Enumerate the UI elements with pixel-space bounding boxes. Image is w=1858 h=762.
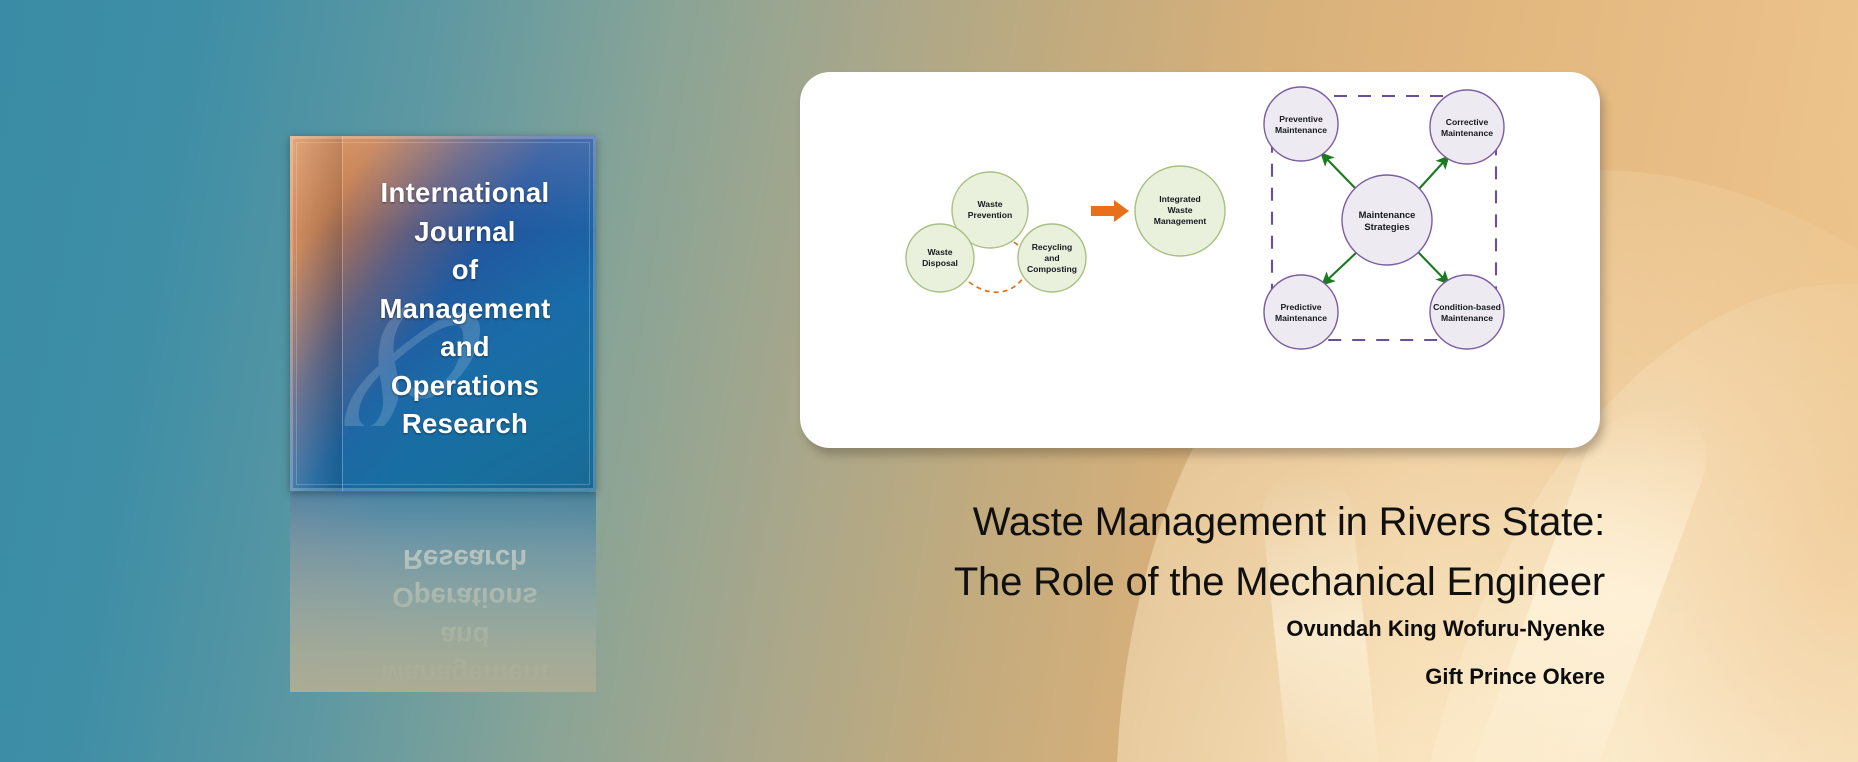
node-predictive-maintenance[interactable]: Predictive Maintenance xyxy=(1264,275,1338,349)
node-condition-label-1: Maintenance xyxy=(1441,313,1493,323)
node-maintenance-strategies-label-0: Maintenance xyxy=(1359,209,1416,220)
node-waste-disposal[interactable]: Waste Disposal xyxy=(906,224,974,292)
node-iwm-label-1: Waste xyxy=(1168,205,1193,215)
journal-cover-inner-border xyxy=(296,142,590,485)
node-waste-disposal-label-0: Waste xyxy=(928,247,953,257)
node-preventive-maintenance[interactable]: Preventive Maintenance xyxy=(1264,87,1338,161)
node-integrated-waste-management[interactable]: Integrated Waste Management xyxy=(1135,166,1225,256)
figure-card: Waste Prevention Recycling and Compostin… xyxy=(800,72,1600,448)
node-iwm-label-0: Integrated xyxy=(1159,194,1201,204)
node-recycling-label-1: and xyxy=(1044,253,1059,263)
orange-flow-arrow-icon xyxy=(1091,200,1129,222)
node-preventive-label-1: Maintenance xyxy=(1275,125,1327,135)
node-preventive-label-0: Preventive xyxy=(1279,114,1323,124)
node-recycling-and-composting[interactable]: Recycling and Composting xyxy=(1018,224,1086,292)
node-predictive-label-0: Predictive xyxy=(1280,302,1321,312)
poster-title: Waste Management in Rivers State: The Ro… xyxy=(560,492,1605,612)
diagram-svg: Waste Prevention Recycling and Compostin… xyxy=(800,72,1600,448)
author-name-1: Ovundah King Wofuru-Nyenke xyxy=(560,616,1605,642)
node-corrective-label-0: Corrective xyxy=(1446,117,1489,127)
poster-canvas: International Journal of Management and … xyxy=(0,0,1858,762)
node-predictive-label-1: Maintenance xyxy=(1275,313,1327,323)
node-maintenance-strategies[interactable]: Maintenance Strategies xyxy=(1342,175,1432,265)
poster-title-line-1: Waste Management in Rivers State: xyxy=(560,492,1605,552)
node-condition-label-0: Condition-based xyxy=(1433,302,1501,312)
node-condition-based-maintenance[interactable]: Condition-based Maintenance xyxy=(1430,275,1504,349)
node-recycling-label-2: Composting xyxy=(1027,264,1077,274)
author-name-2: Gift Prince Okere xyxy=(560,664,1605,690)
node-waste-disposal-label-1: Disposal xyxy=(922,258,958,268)
node-recycling-label-0: Recycling xyxy=(1032,242,1073,252)
journal-cover: ℘ International Journal of Management an… xyxy=(290,136,596,491)
poster-title-line-2: The Role of the Mechanical Engineer xyxy=(560,552,1605,612)
node-waste-prevention-label-1: Prevention xyxy=(968,210,1012,220)
journal-cover-reflection: International Journal of Management and … xyxy=(290,492,596,692)
node-corrective-maintenance[interactable]: Corrective Maintenance xyxy=(1430,90,1504,164)
node-waste-prevention-label-0: Waste xyxy=(978,199,1003,209)
figure-diagram: Waste Prevention Recycling and Compostin… xyxy=(800,72,1600,448)
node-maintenance-strategies-label-1: Strategies xyxy=(1364,221,1409,232)
reflection-fade-mask xyxy=(290,492,596,692)
node-corrective-label-1: Maintenance xyxy=(1441,128,1493,138)
node-iwm-label-2: Management xyxy=(1154,216,1207,226)
